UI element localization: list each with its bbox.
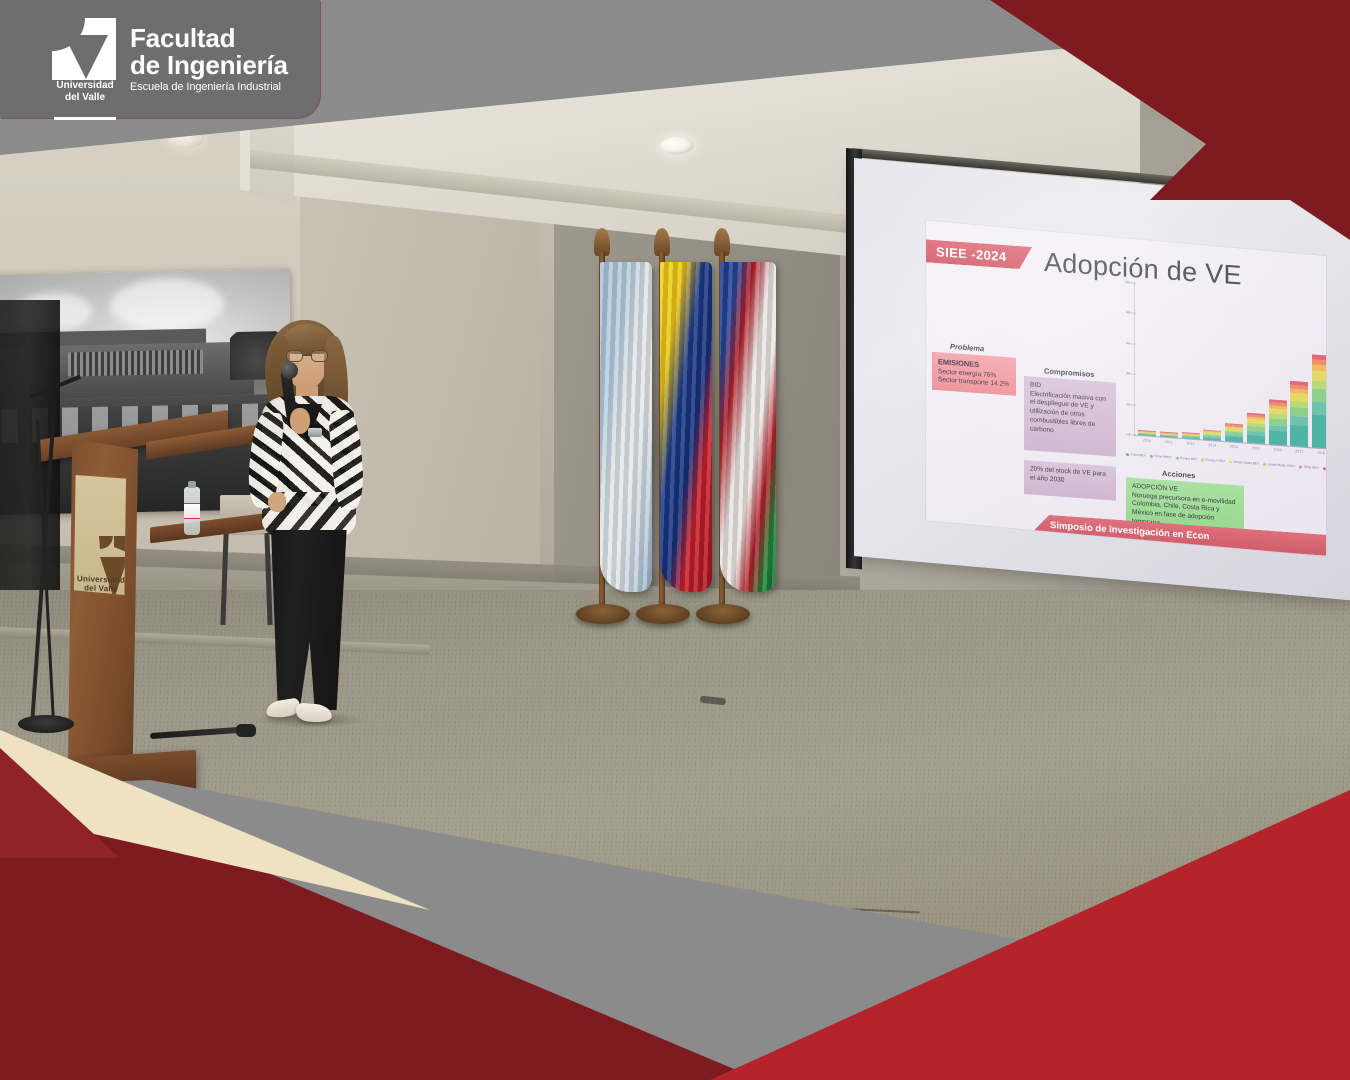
chart-legend-swatch bbox=[1150, 454, 1153, 457]
chart-legend-item: China BEV bbox=[1126, 452, 1146, 457]
slide-tag-badge: SIEE -2024 bbox=[926, 239, 1032, 270]
chart-x-label: 2011 bbox=[1160, 439, 1178, 444]
chart-bars bbox=[1138, 283, 1326, 449]
logo-university-line2: del Valle bbox=[50, 92, 120, 104]
chart-y-tick-label: 80 bbox=[1116, 310, 1130, 315]
chart-bar bbox=[1290, 381, 1308, 447]
ceiling-downlight-2-icon bbox=[660, 137, 694, 154]
chart-legend-item: Europe BEV bbox=[1176, 456, 1198, 462]
chart-x-label: 2012 bbox=[1182, 441, 1200, 446]
badge-faculty-line1: Facultad bbox=[130, 25, 288, 52]
chart-x-label: 2016 bbox=[1269, 447, 1287, 452]
chart-bar bbox=[1247, 413, 1265, 444]
presenter bbox=[232, 312, 392, 744]
chart-legend-swatch bbox=[1201, 458, 1204, 461]
badge-faculty-line2: de Ingeniería bbox=[130, 52, 288, 79]
water-bottle bbox=[184, 487, 200, 535]
chart-bar bbox=[1269, 399, 1287, 445]
chart-legend-swatch bbox=[1323, 467, 1326, 470]
badge-school: Escuela de Ingeniería Industrial bbox=[130, 81, 288, 93]
screen-surface: SIEE -2024 Adopción de VE 100806040200 2… bbox=[854, 158, 1350, 600]
flag-stand-group bbox=[568, 222, 768, 634]
chart-x-label: 2015 bbox=[1247, 446, 1265, 451]
caption-problema: Problema bbox=[950, 342, 984, 353]
box-bid-body: Electrificación masiva con el despliegue… bbox=[1030, 390, 1110, 439]
chart-x-label: 2014 bbox=[1225, 444, 1243, 449]
chart-legend-item: Other PHEV bbox=[1323, 466, 1326, 472]
chart-legend-swatch bbox=[1299, 465, 1302, 468]
box-stock-body: 20% del stock de VE para el año 2030 bbox=[1030, 465, 1110, 488]
chart-bar bbox=[1203, 429, 1221, 440]
projector-screen: SIEE -2024 Adopción de VE 100806040200 2… bbox=[846, 148, 1350, 568]
chart-legend-item: China PHEV bbox=[1150, 454, 1172, 460]
chart-bar-segment bbox=[1312, 414, 1326, 449]
chart-legend-label: Europe BEV bbox=[1180, 456, 1197, 461]
chart-x-label: 2013 bbox=[1203, 443, 1221, 448]
chart-y-tick-label: 20 bbox=[1116, 401, 1130, 406]
chart-bar-segment bbox=[1269, 431, 1287, 446]
box-stock-2030: 20% del stock de VE para el año 2030 bbox=[1024, 460, 1116, 501]
chart-legend-swatch bbox=[1176, 456, 1179, 459]
chart-legend-swatch bbox=[1263, 462, 1266, 465]
chart-legend-label: United States PHEV bbox=[1267, 462, 1295, 468]
logo-university-line1: Universidad bbox=[50, 80, 120, 92]
faculty-logo-badge: Universidad del Valle Facultad de Ingeni… bbox=[0, 0, 320, 118]
podium-plaque-text: Universidad del Valle bbox=[72, 574, 130, 594]
chart-bar-segment bbox=[1290, 425, 1308, 448]
chart-y-tick-label: 40 bbox=[1116, 371, 1130, 376]
chart-x-label: 2010 bbox=[1138, 438, 1156, 443]
microphone-stand-base bbox=[18, 715, 74, 733]
chart-legend-label: Europe PHEV bbox=[1206, 458, 1225, 463]
chart-bar bbox=[1312, 355, 1326, 449]
chart-legend-swatch bbox=[1126, 453, 1129, 456]
glasses-icon bbox=[286, 350, 328, 362]
chart-y-tick-label: 100 bbox=[1116, 279, 1130, 284]
ev-adoption-chart: 100806040200 201020112012201320142015201… bbox=[1124, 282, 1326, 477]
presentation-slide: SIEE -2024 Adopción de VE 100806040200 2… bbox=[926, 220, 1326, 556]
chart-legend-item: United States PHEV bbox=[1263, 462, 1295, 468]
chart-legend-item: United States BEV bbox=[1229, 459, 1259, 465]
chart-legend-label: China PHEV bbox=[1154, 454, 1171, 459]
screenshot-canvas: Universidad del Valle bbox=[0, 0, 1350, 1080]
chart-legend-swatch bbox=[1229, 460, 1232, 463]
chart-legend-label: Other BEV bbox=[1304, 465, 1319, 470]
box-problema-heading: EMISIONES bbox=[938, 357, 979, 369]
univalle-shield-icon: Universidad del Valle bbox=[52, 18, 116, 100]
wooden-podium: Universidad del Valle bbox=[60, 425, 235, 800]
chart-legend-label: China BEV bbox=[1131, 452, 1146, 457]
chart-legend-item: Europe PHEV bbox=[1201, 457, 1225, 463]
chart-bar-segment bbox=[1247, 434, 1265, 444]
caption-acciones: Acciones bbox=[1162, 469, 1195, 480]
chart-x-label: 2018 bbox=[1312, 450, 1326, 455]
chart-x-label: 2017 bbox=[1290, 449, 1308, 454]
wristwatch bbox=[308, 428, 322, 437]
chart-y-tick-label: 0 bbox=[1116, 431, 1130, 436]
chart-legend: China BEVChina PHEVEurope BEVEurope PHEV… bbox=[1126, 452, 1326, 471]
chart-bar bbox=[1225, 423, 1243, 442]
box-bid: BID Electrificación masiva con el despli… bbox=[1024, 376, 1116, 457]
chart-y-tick-label: 60 bbox=[1116, 340, 1130, 345]
box-problema: EMISIONES Sector energía 76% Sector tran… bbox=[932, 352, 1016, 396]
chart-bar bbox=[1182, 432, 1200, 439]
chart-legend-label: United States BEV bbox=[1233, 460, 1259, 466]
chart-bar-segment bbox=[1312, 389, 1326, 403]
chart-legend-item: Other BEV bbox=[1299, 464, 1318, 469]
